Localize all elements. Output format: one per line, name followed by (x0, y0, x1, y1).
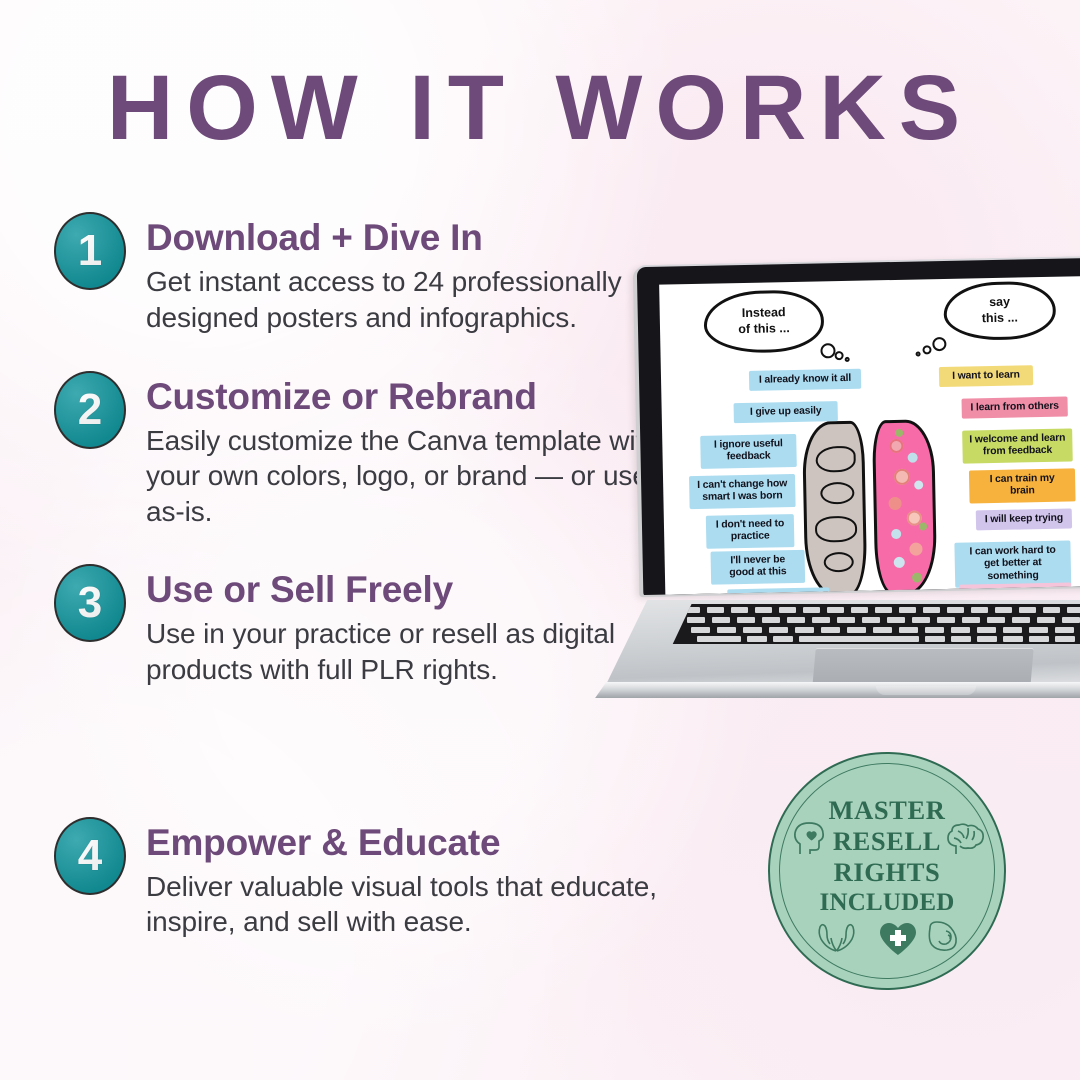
step-item-4: 4 Empower & Educate Deliver valuable vis… (54, 823, 714, 941)
laptop-base (566, 582, 1080, 702)
laptop-mockup: Instead of this ... say this ... (566, 258, 1080, 728)
caring-hands-icon (816, 921, 858, 960)
chip-fixed-1: I already know it all (749, 369, 861, 392)
brain-right-hemisphere (872, 419, 937, 594)
thought-bubble-left-text: Instead of this ... (738, 305, 790, 337)
step-number-badge-3: 3 (54, 564, 126, 642)
thought-bubble-right-text: say this ... (981, 295, 1018, 327)
brain-illustration (802, 419, 937, 594)
flexed-arm-icon (926, 919, 964, 958)
thought-dot-icon (835, 351, 844, 360)
chip-fixed-3: I ignore useful feedback (700, 434, 797, 469)
thought-dot-icon (820, 343, 835, 358)
thought-bubble-right: say this ... (943, 281, 1056, 341)
step-body-4: Deliver valuable visual tools that educa… (146, 869, 746, 941)
chip-growth-1: I want to learn (939, 365, 1033, 387)
page-title: HOW IT WORKS (0, 62, 1080, 154)
thought-dot-icon (922, 345, 931, 354)
laptop-lid: Instead of this ... say this ... (635, 255, 1080, 595)
laptop-front-edge (566, 682, 1080, 698)
badge-line-3: RIGHTS (770, 857, 1004, 888)
master-resell-rights-badge: MASTER RESELL RIGHTS INCLUDED (768, 752, 1006, 990)
chip-fixed-2: I give up easily (734, 401, 838, 424)
chip-growth-5: I will keep trying (976, 508, 1072, 530)
thought-dot-icon (845, 357, 850, 362)
head-heart-icon (792, 820, 832, 861)
poster-artwork: Instead of this ... say this ... (659, 275, 1080, 595)
chip-fixed-6: I'll never be good at this (711, 550, 806, 585)
step-title-1: Download + Dive In (146, 218, 714, 258)
chip-growth-4: I can train my brain (969, 468, 1076, 503)
chip-fixed-5: I don't need to practice (706, 514, 795, 549)
thought-dot-icon (932, 337, 946, 351)
chip-growth-2: I learn from others (961, 397, 1067, 420)
step-number-badge-1: 1 (54, 212, 126, 290)
chip-growth-3: I welcome and learn from feedback (962, 428, 1073, 463)
thought-dot-icon (916, 351, 921, 356)
laptop-screen: Instead of this ... say this ... (659, 275, 1080, 595)
badge-line-4: INCLUDED (770, 888, 1004, 917)
laptop-keyboard (661, 604, 1080, 644)
brain-icon (944, 822, 986, 861)
step-number-badge-2: 2 (54, 371, 126, 449)
brain-left-hemisphere (802, 421, 867, 595)
chip-fixed-4: I can't change how smart I was born (689, 474, 796, 509)
thought-bubble-left: Instead of this ... (703, 289, 824, 353)
laptop-latch-notch (876, 686, 976, 695)
step-number-badge-4: 4 (54, 817, 126, 895)
heart-cross-icon (878, 921, 918, 962)
step-title-4: Empower & Educate (146, 823, 714, 863)
